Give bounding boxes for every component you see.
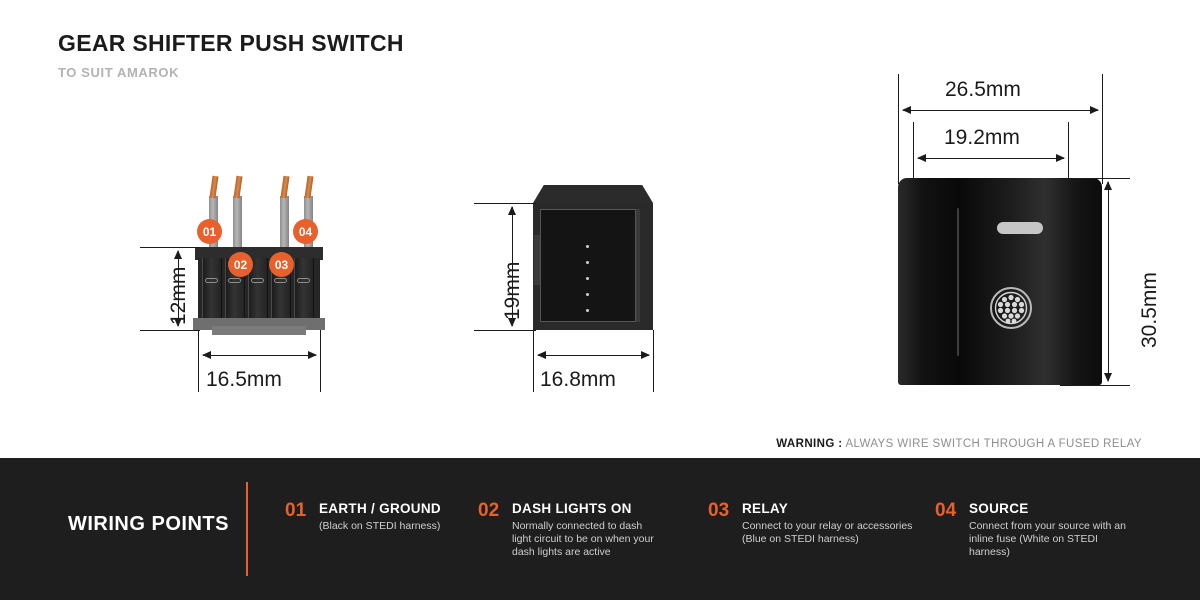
side-width-ext-left — [533, 330, 534, 392]
side-right-rib — [636, 209, 640, 322]
wiring-badge-01[interactable]: 01 — [197, 219, 222, 244]
front-height-ext-top — [1060, 178, 1130, 179]
page-header: GEAR SHIFTER PUSH SWITCH TO SUIT AMAROK — [58, 30, 404, 80]
wiring-point-01-number: 01 — [285, 500, 306, 522]
wiring-point-04-title: SOURCE — [969, 501, 1140, 516]
side-height-ext-bottom — [474, 330, 536, 331]
gear-knob-icon — [988, 285, 1034, 331]
warning-note: WARNING : ALWAYS WIRE SWITCH THROUGH A F… — [776, 438, 1142, 450]
connector-slot-1 — [205, 278, 218, 283]
page-title: GEAR SHIFTER PUSH SWITCH — [58, 30, 404, 57]
connector-slot-2 — [228, 278, 241, 283]
connector-height-ext-top — [140, 247, 200, 248]
side-height-label: 19mm — [501, 262, 525, 320]
wire-tip-03 — [280, 176, 289, 199]
wiring-badge-03[interactable]: 03 — [269, 252, 294, 277]
side-width-measure — [538, 355, 649, 356]
warning-label: WARNING : — [776, 438, 842, 450]
wiring-point-03-title: RELAY — [742, 501, 913, 516]
side-dot-2 — [586, 261, 589, 264]
side-face-panel — [540, 209, 636, 322]
connector-width-measure — [203, 355, 316, 356]
wiring-point-01-title: EARTH / GROUND — [319, 501, 441, 516]
front-height-measure — [1108, 182, 1109, 381]
connector-column-5 — [294, 258, 314, 320]
footer-divider — [246, 482, 248, 576]
wiring-point-03-number: 03 — [708, 500, 729, 522]
front-body — [898, 178, 1102, 385]
connector-slot-5 — [297, 278, 310, 283]
wiring-point-01-desc: (Black on STEDI harness) — [319, 520, 441, 533]
wiring-badge-04[interactable]: 04 — [293, 219, 318, 244]
wiring-point-04-number: 04 — [935, 500, 956, 522]
wire-tip-01 — [209, 176, 218, 199]
front-height-ext-bottom — [1060, 385, 1130, 386]
front-outer-ext-right — [1102, 74, 1103, 184]
wiring-point-03-desc: Connect to your relay or accessories (Bl… — [742, 520, 913, 546]
side-dot-4 — [586, 293, 589, 296]
side-dot-5 — [586, 309, 589, 312]
side-dot-1 — [586, 245, 589, 248]
side-height-ext-top — [474, 203, 536, 204]
connector-slot-3 — [251, 278, 264, 283]
front-outer-width-label: 26.5mm — [945, 78, 1021, 102]
connector-height-ext-bottom — [140, 330, 200, 331]
connector-column-1 — [202, 258, 222, 320]
connector-width-ext-right — [320, 330, 321, 392]
page-subtitle: TO SUIT AMAROK — [58, 65, 404, 80]
connector-width-label: 16.5mm — [206, 368, 282, 392]
connector-slot-4 — [274, 278, 287, 283]
front-outer-width-measure — [903, 110, 1098, 111]
front-inner-ext-right — [1068, 122, 1069, 184]
connector-base-plate — [212, 326, 306, 335]
wiring-badge-02[interactable]: 02 — [228, 252, 253, 277]
wiring-point-02-title: DASH LIGHTS ON — [512, 501, 663, 516]
wiring-point-02-desc: Normally connected to dash light circuit… — [512, 520, 663, 559]
front-outer-ext-left — [898, 74, 899, 184]
front-inner-ext-left — [913, 122, 914, 184]
side-width-label: 16.8mm — [540, 368, 616, 392]
side-width-ext-right — [653, 330, 654, 392]
connector-body — [198, 258, 320, 320]
side-top-cap — [533, 185, 653, 203]
wire-tip-04 — [304, 176, 313, 199]
warning-text: ALWAYS WIRE SWITCH THROUGH A FUSED RELAY — [845, 438, 1142, 450]
front-inner-width-label: 19.2mm — [944, 126, 1020, 150]
front-height-label: 30.5mm — [1138, 272, 1162, 348]
side-dot-3 — [586, 277, 589, 280]
side-left-rib — [534, 235, 540, 285]
front-groove-line — [957, 208, 959, 356]
connector-width-ext-left — [198, 330, 199, 392]
front-indicator-bar — [997, 222, 1043, 234]
wire-tip-02 — [233, 176, 242, 199]
wiring-point-02-number: 02 — [478, 500, 499, 522]
connector-height-label: 12mm — [167, 267, 191, 325]
front-inner-width-measure — [918, 158, 1064, 159]
footer-title: WIRING POINTS — [68, 513, 229, 536]
wiring-point-04-desc: Connect from your source with an inline … — [969, 520, 1140, 559]
